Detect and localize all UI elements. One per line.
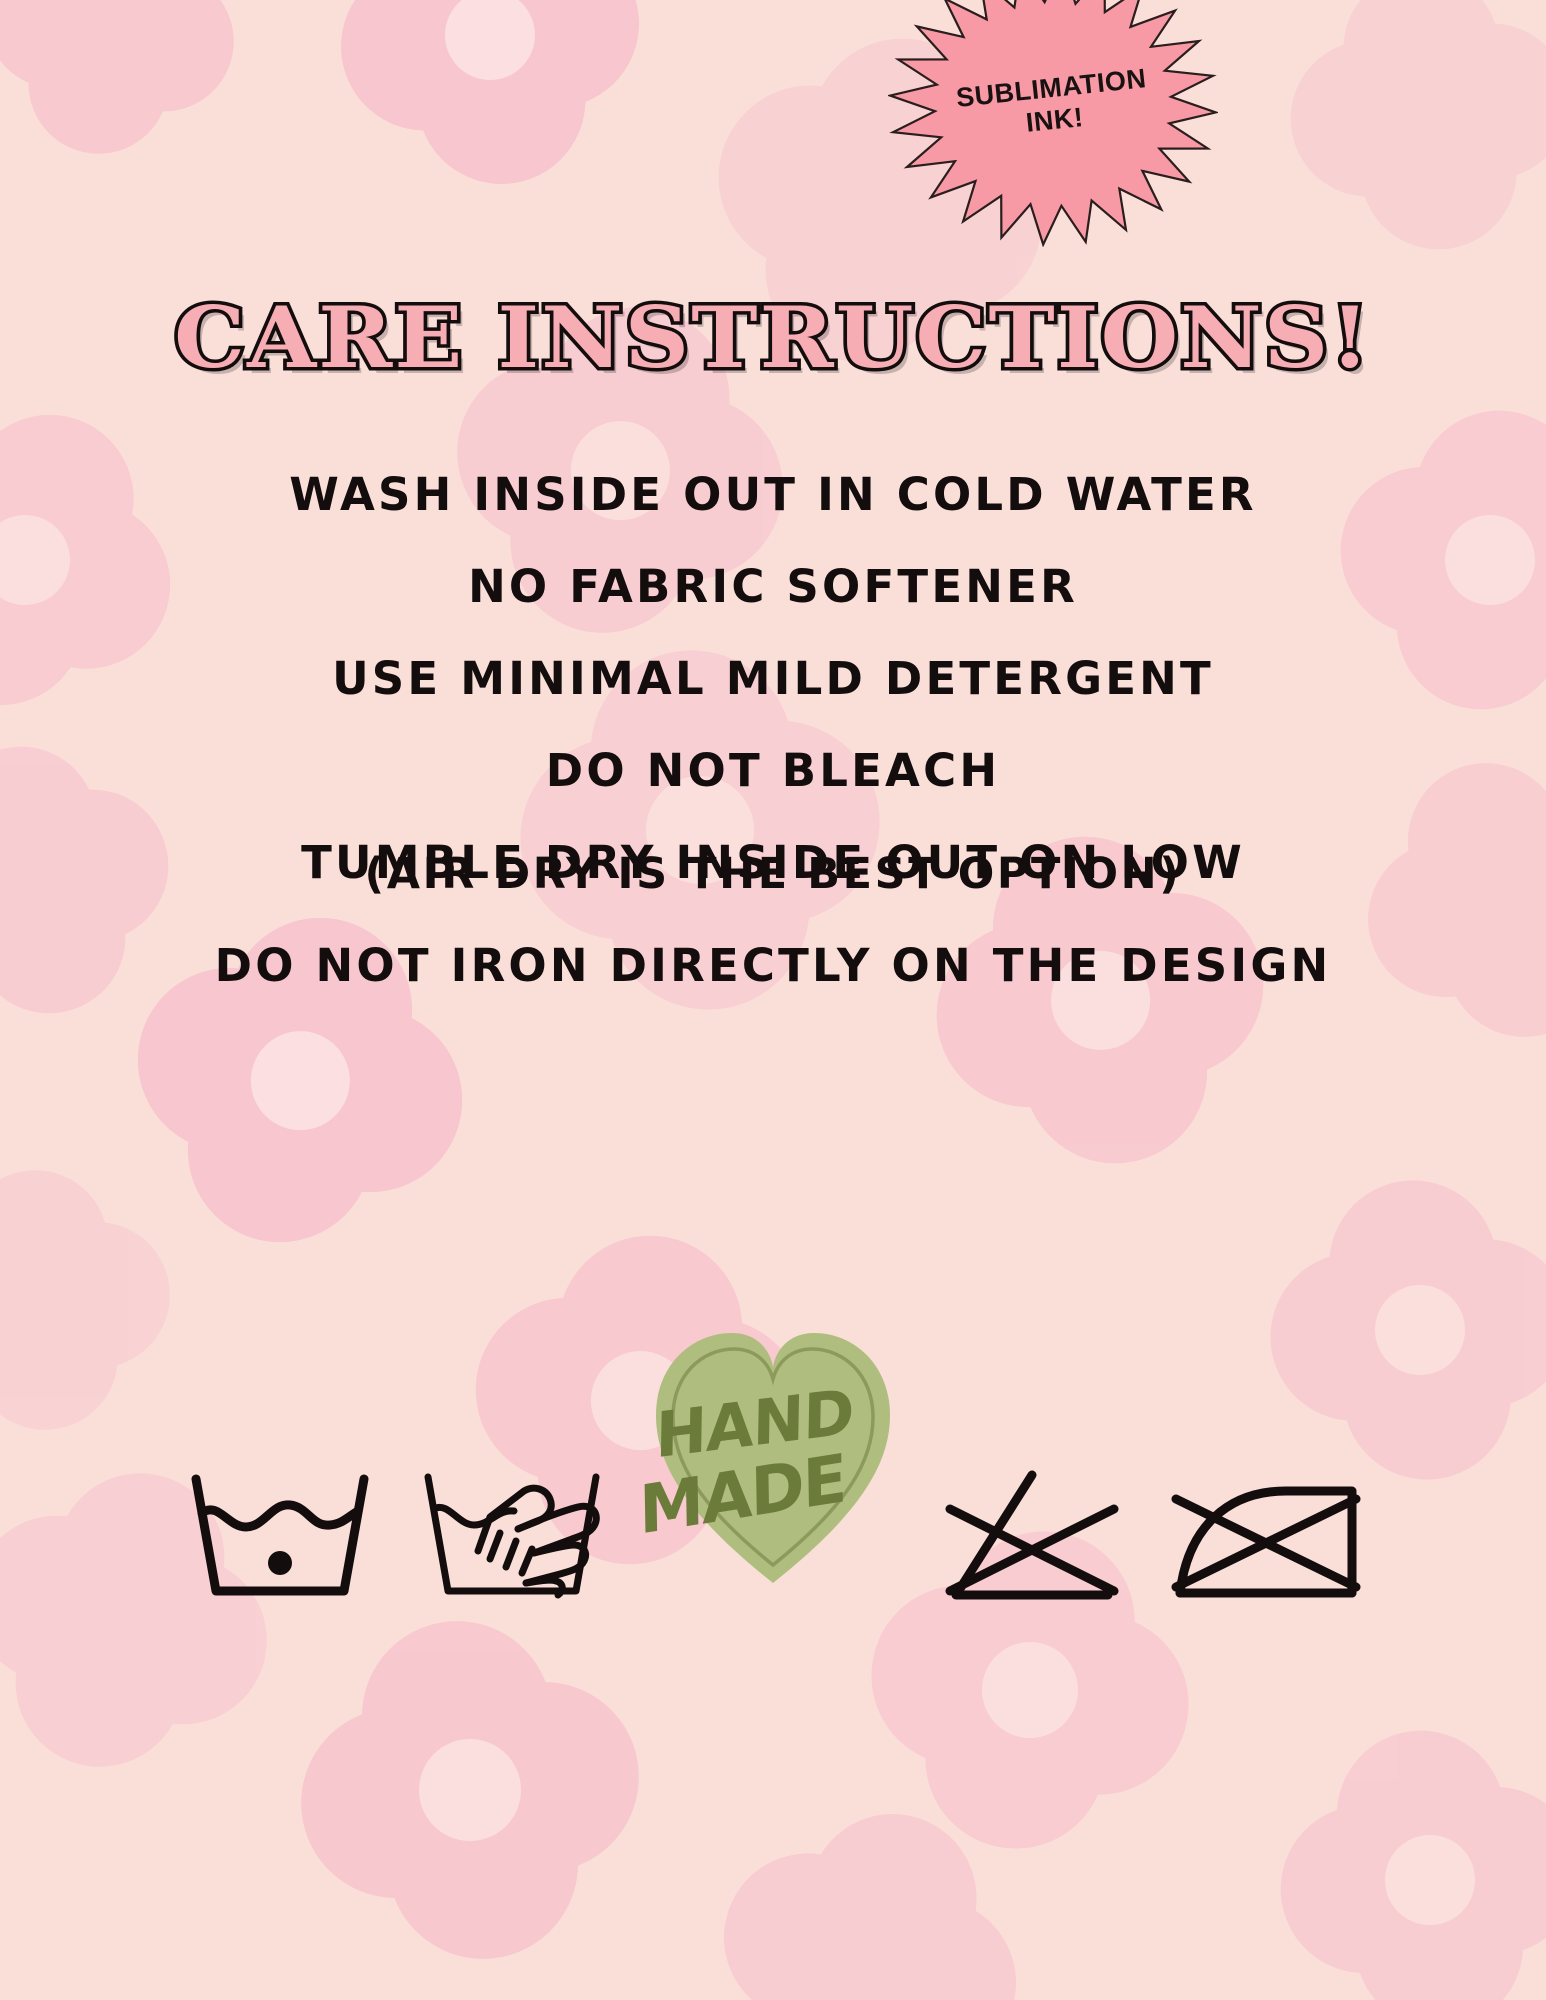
instruction-line: DO NOT IRON DIRECTLY ON THE DESIGN bbox=[0, 943, 1546, 988]
care-instructions-card: SUBLIMATION INK! CARE INSTRUCTIONS! WASH… bbox=[0, 0, 1546, 2000]
do-not-iron-icon bbox=[1166, 1455, 1366, 1605]
machine-wash-cold-icon bbox=[180, 1455, 380, 1605]
handmade-heart-logo: HAND MADE bbox=[648, 1305, 898, 1605]
instruction-line: WASH INSIDE OUT IN COLD WATER bbox=[0, 472, 1546, 517]
flower-shape bbox=[1261, 1711, 1546, 2000]
flower-shape bbox=[0, 0, 258, 178]
starburst-shape bbox=[888, 0, 1218, 247]
sublimation-ink-badge: SUBLIMATION INK! bbox=[888, 0, 1218, 247]
instruction-line: USE MINIMAL MILD DETERGENT bbox=[0, 656, 1546, 701]
flower-shape bbox=[316, 0, 664, 209]
instruction-list: WASH INSIDE OUT IN COLD WATERNO FABRIC S… bbox=[0, 472, 1546, 1035]
flower-shape bbox=[273, 1593, 667, 1987]
instruction-line: DO NOT BLEACH bbox=[0, 748, 1546, 793]
page-title: CARE INSTRUCTIONS! bbox=[174, 288, 1371, 387]
page-title-wrap: CARE INSTRUCTIONS! bbox=[0, 288, 1546, 387]
instruction-line: NO FABRIC SOFTENER bbox=[0, 564, 1546, 609]
do-not-bleach-icon bbox=[932, 1455, 1132, 1605]
laundry-symbol-row: HAND MADE bbox=[0, 1275, 1546, 1605]
instruction-line: (AIR DRY IS THE BEST OPTION) bbox=[0, 853, 1546, 896]
flower-shape bbox=[1272, 0, 1546, 268]
hand-wash-icon bbox=[414, 1455, 614, 1605]
